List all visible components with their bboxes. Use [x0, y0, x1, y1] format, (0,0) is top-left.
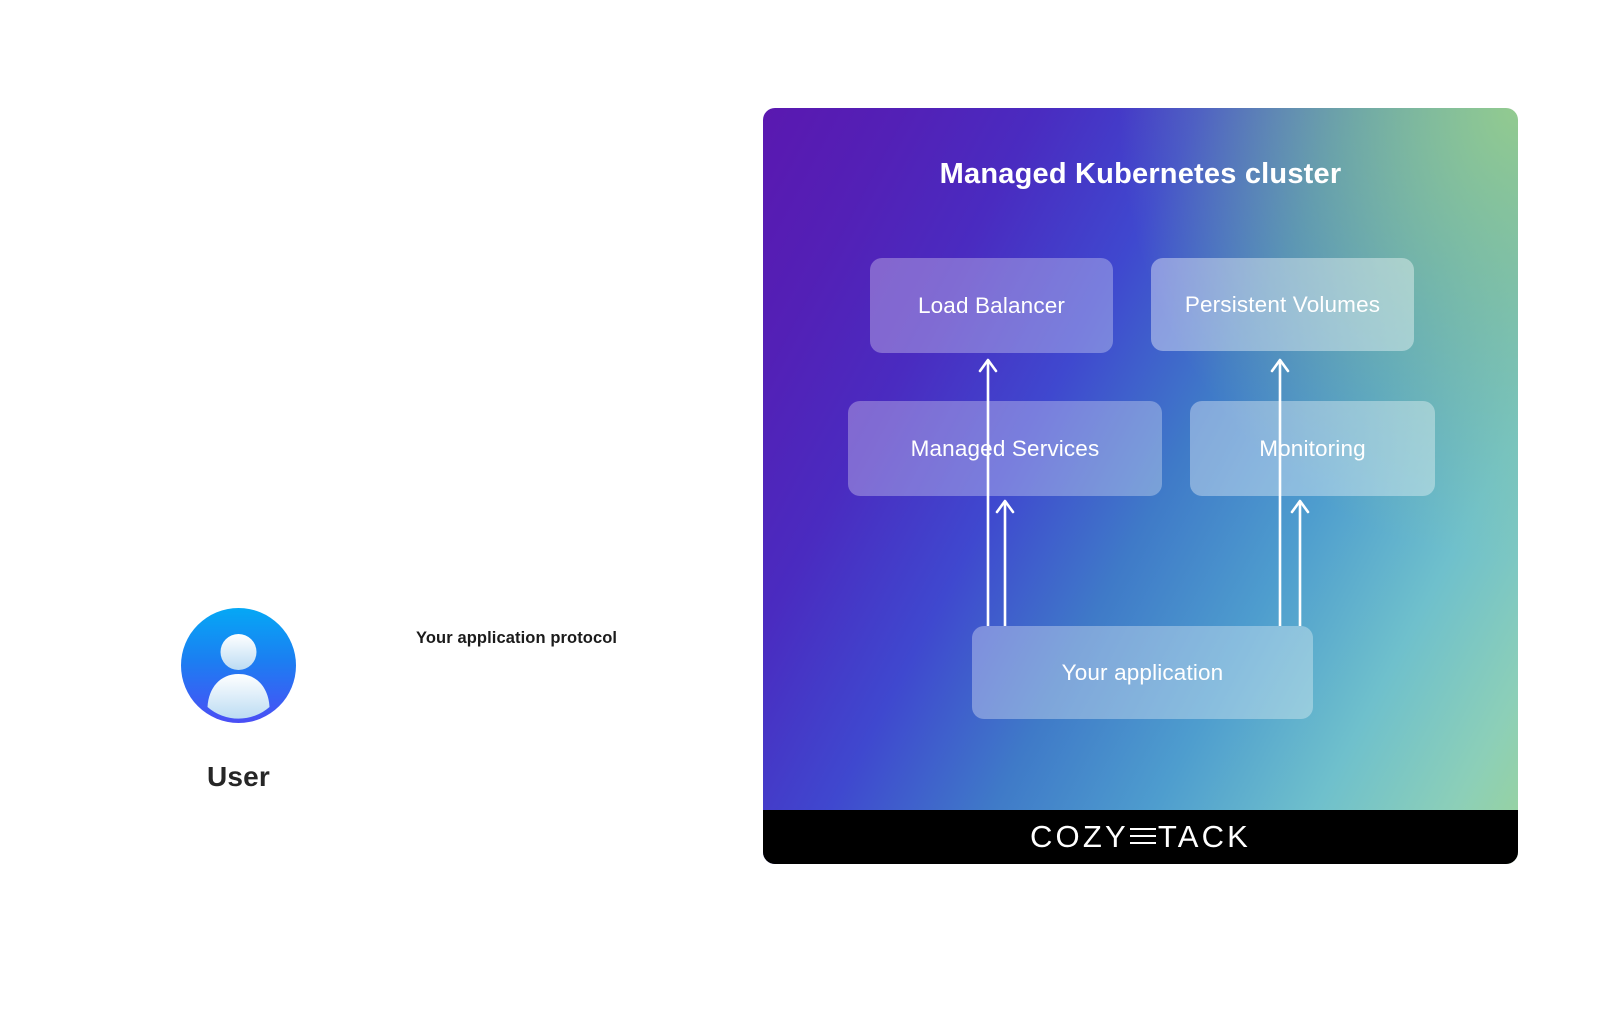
- stacked-bars-icon: [1130, 827, 1156, 847]
- box-your-application-label: Your application: [1062, 660, 1224, 686]
- box-load-balancer-label: Load Balancer: [918, 293, 1065, 319]
- box-load-balancer[interactable]: Load Balancer: [870, 258, 1113, 353]
- box-your-application[interactable]: Your application: [972, 626, 1313, 719]
- user-silhouette-icon: [181, 608, 296, 723]
- user-group: User: [181, 608, 296, 793]
- user-avatar-icon: [181, 608, 296, 723]
- brand-prefix: COZY: [1030, 819, 1129, 855]
- user-label: User: [181, 761, 296, 793]
- box-monitoring[interactable]: Monitoring: [1190, 401, 1435, 496]
- box-managed-services[interactable]: Managed Services: [848, 401, 1162, 496]
- box-persistent-volumes-label: Persistent Volumes: [1185, 292, 1380, 318]
- box-persistent-volumes[interactable]: Persistent Volumes: [1151, 258, 1414, 351]
- cluster-footer: COZY TACK: [763, 810, 1518, 864]
- brand-suffix: TACK: [1158, 819, 1251, 855]
- cozystack-logo: COZY TACK: [1030, 819, 1251, 855]
- box-monitoring-label: Monitoring: [1259, 436, 1366, 462]
- managed-kubernetes-cluster-card: Managed Kubernetes cluster Load Balancer…: [763, 108, 1518, 864]
- box-managed-services-label: Managed Services: [911, 436, 1100, 462]
- diagram-canvas: User Your application protocol Managed K…: [0, 0, 1617, 1024]
